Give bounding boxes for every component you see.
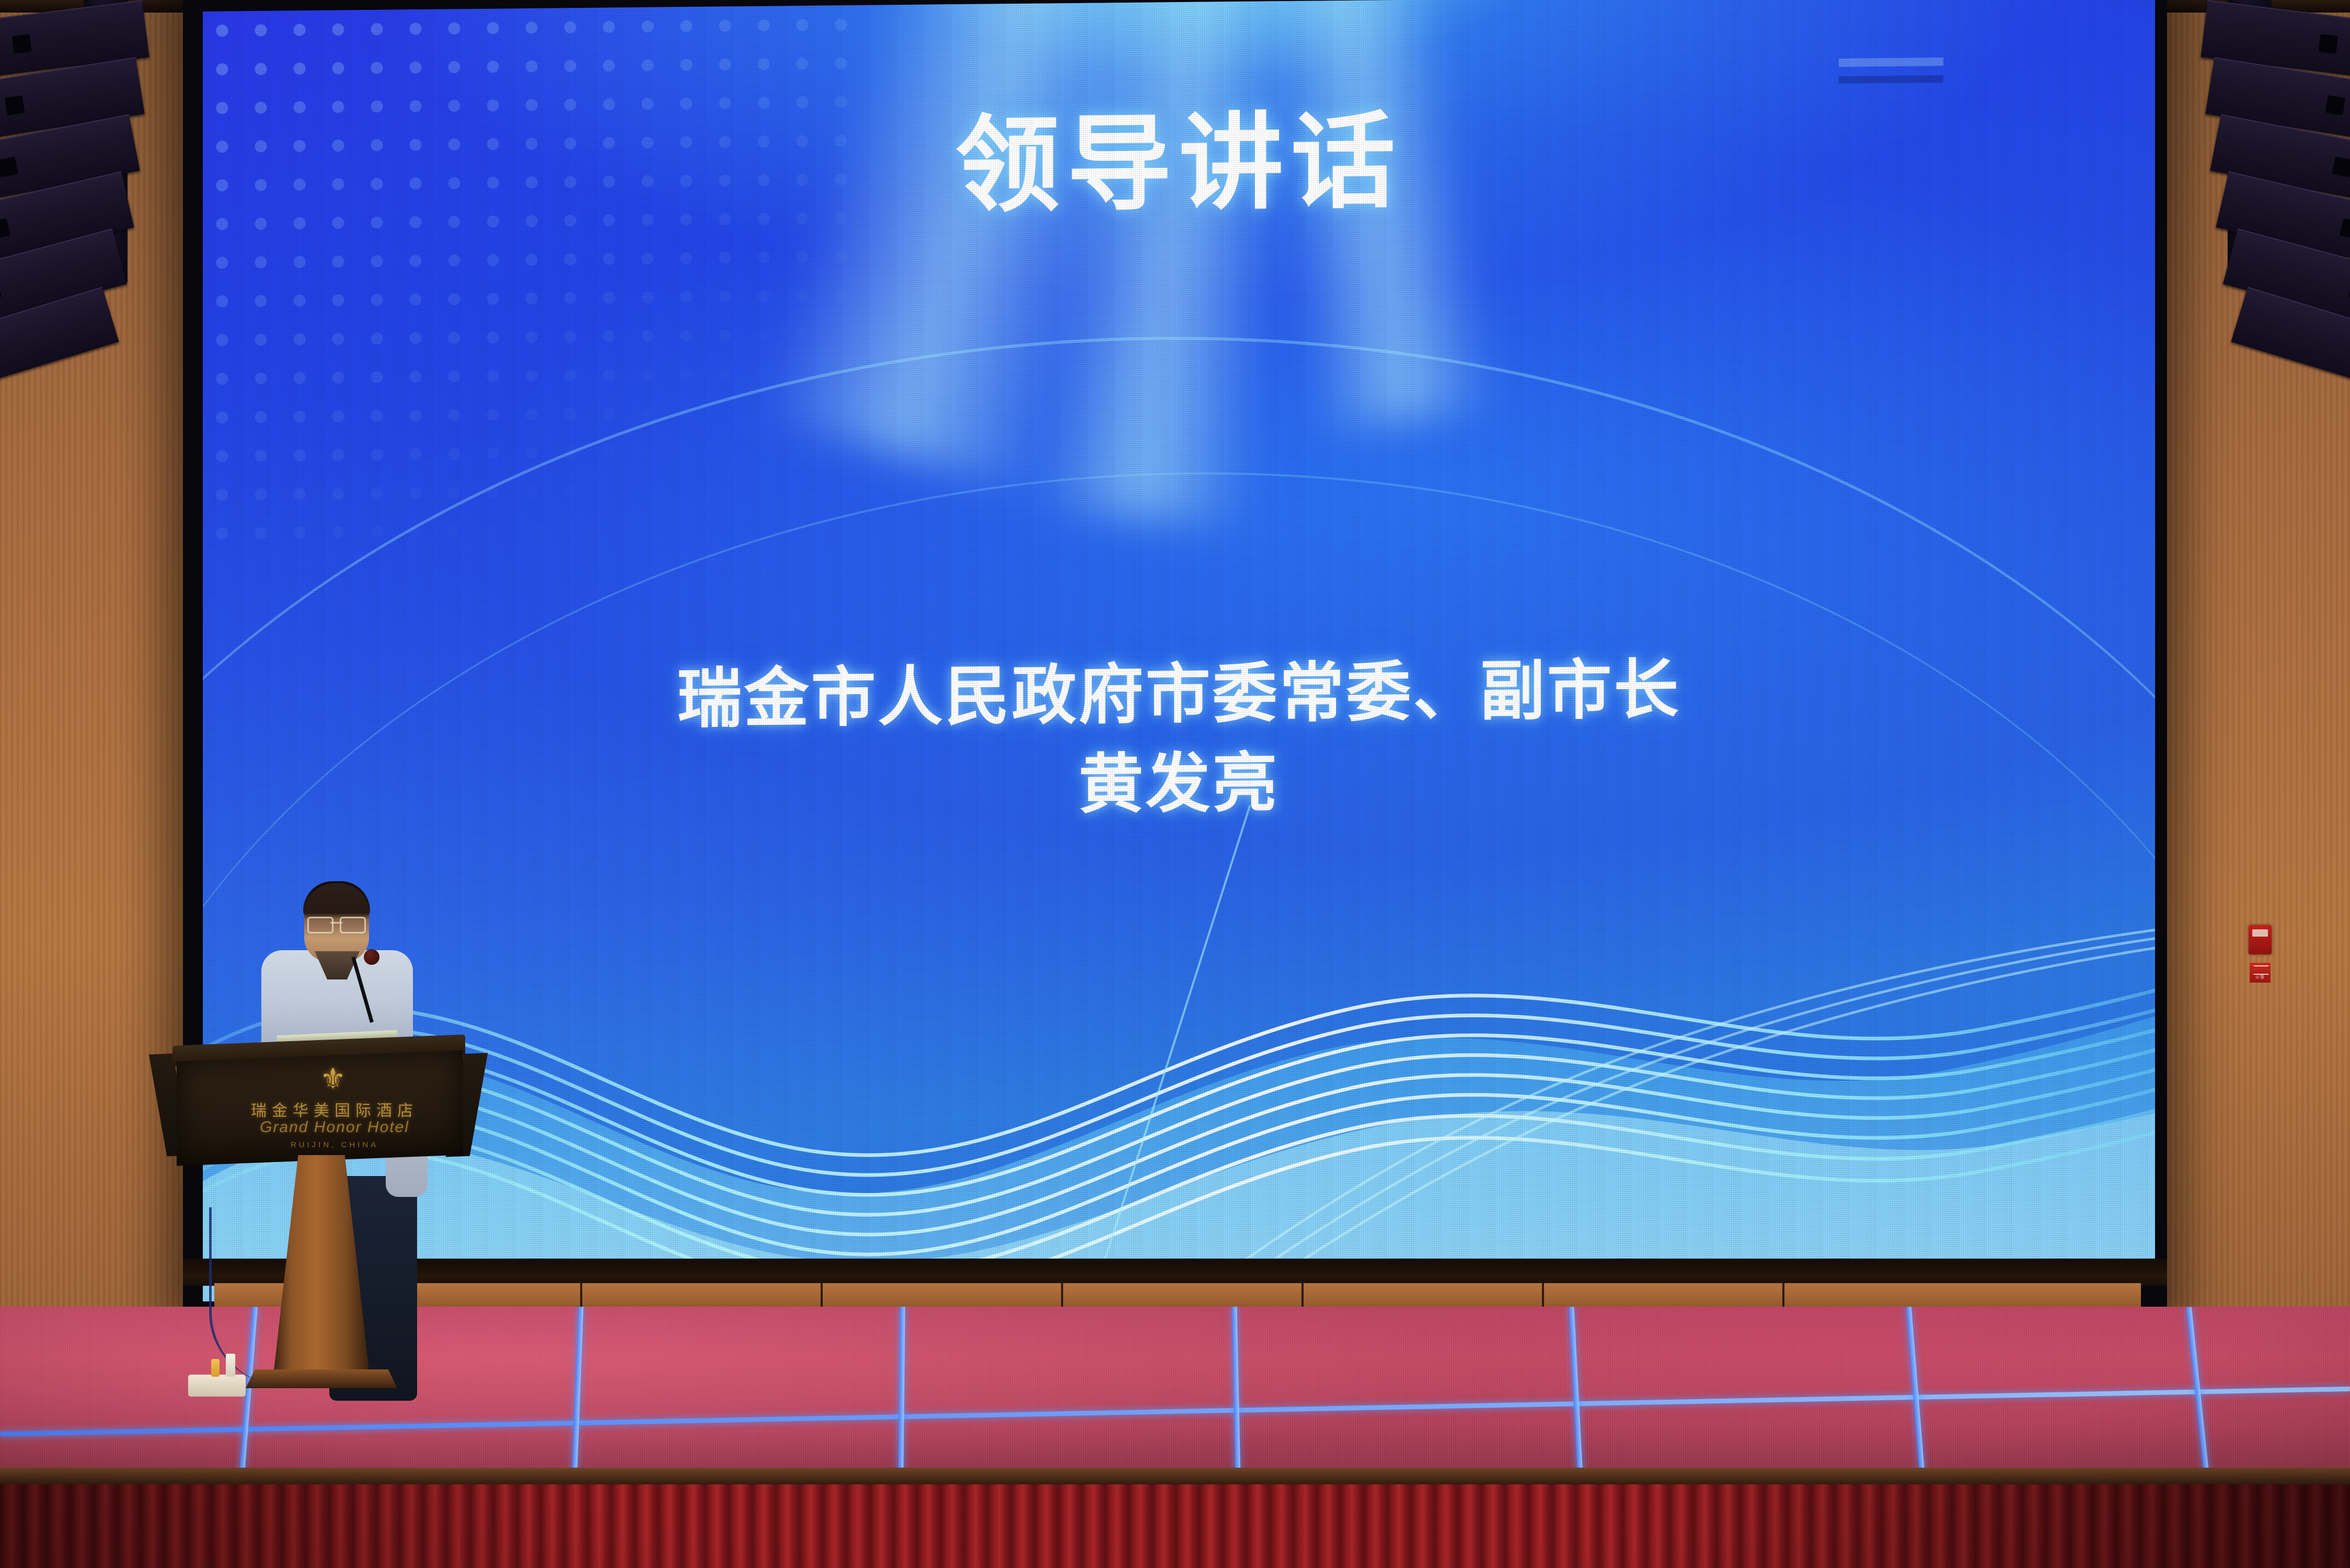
- speaker-port: [2318, 34, 2338, 54]
- eyeglasses-icon: [307, 917, 366, 930]
- podium-hotel-name-en: Grand Honor Hotel: [246, 1119, 423, 1136]
- screen-watermark: [1839, 52, 1943, 87]
- slide-title: 领导讲话: [203, 102, 2155, 226]
- plug-pin: [226, 1354, 235, 1377]
- slide-subtitle-line-2: 黄发亮: [203, 730, 2155, 838]
- speaker-port: [2325, 95, 2345, 116]
- speaker-port: [2348, 280, 2350, 302]
- speaker-port: [2340, 218, 2350, 239]
- podium-hotel-name-cn: 瑞金华美国际酒店: [251, 1098, 418, 1121]
- fire-alarm-pull-station-icon: [2249, 925, 2272, 954]
- fire-bell-label: 火警: [2250, 974, 2271, 980]
- pull-station-plate: [2252, 929, 2268, 937]
- watermark-bar: [1839, 75, 1943, 84]
- speaker-port: [0, 157, 18, 178]
- slide-subtitle: 瑞金市人民政府市委常委、副市长 黄发亮: [203, 641, 2155, 838]
- floor-power-strip: [188, 1375, 246, 1397]
- watermark-bar: [1839, 57, 1943, 67]
- stage-skirt-curtain: [0, 1484, 2350, 1568]
- stage-edge-nosing: [0, 1468, 2350, 1485]
- light-beam: [756, 0, 1196, 493]
- speaker-port: [0, 218, 10, 239]
- fire-alarm-bell-icon: 火警: [2250, 963, 2271, 983]
- stage-photo-scene: 领导讲话 瑞金市人民政府市委常委、副市长 黄发亮 火警: [0, 0, 2350, 1568]
- hotel-logo-mark-icon: ⚜: [316, 1064, 350, 1096]
- speaker-port: [5, 95, 25, 116]
- skirt-shading: [0, 1484, 2350, 1568]
- plug-pin: [211, 1359, 220, 1377]
- bell-glyph: [2253, 965, 2270, 975]
- podium-city-line: RUIJIN, CHINA: [261, 1140, 408, 1149]
- glasses-lens: [307, 917, 333, 933]
- speaker-port: [2332, 157, 2350, 178]
- glasses-lens: [340, 917, 366, 933]
- light-beam: [1032, 0, 1318, 528]
- podium-with-speaker: ⚜ 瑞金华美国际酒店 Grand Honor Hotel RUIJIN, CHI…: [172, 883, 497, 1463]
- speaker-port: [12, 34, 32, 54]
- halftone-dot-pattern: [203, 5, 856, 560]
- speaker-port: [0, 280, 2, 302]
- microphone-head-icon: [364, 949, 379, 965]
- podium-cable: [209, 1207, 290, 1385]
